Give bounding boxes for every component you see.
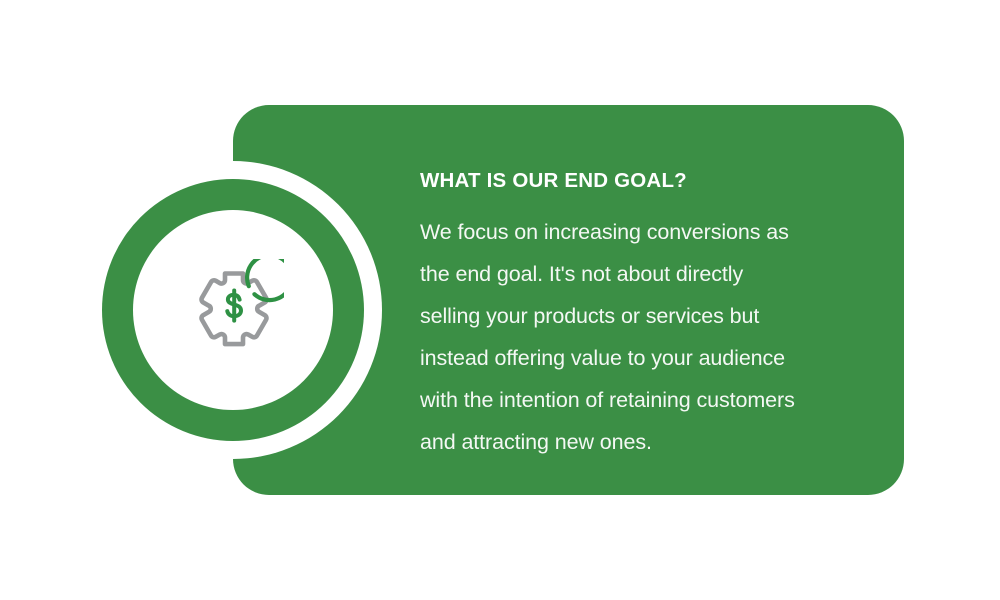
body-line: with the intention of retaining customer…	[420, 379, 860, 421]
body-line: instead offering value to your audience	[420, 337, 860, 379]
card-body: We focus on increasing conversions as th…	[420, 194, 860, 463]
card-text-block: WHAT IS OUR END GOAL? We focus on increa…	[420, 168, 860, 463]
body-line: selling your products or services but	[420, 295, 860, 337]
body-line: and attracting new ones.	[420, 421, 860, 463]
body-line: We focus on increasing conversions as	[420, 211, 860, 253]
body-line: the end goal. It's not about directly	[420, 253, 860, 295]
card-heading: WHAT IS OUR END GOAL?	[420, 168, 860, 194]
slide-canvas: WHAT IS OUR END GOAL? We focus on increa…	[0, 0, 1000, 600]
gear-dollar-icon	[184, 259, 284, 359]
